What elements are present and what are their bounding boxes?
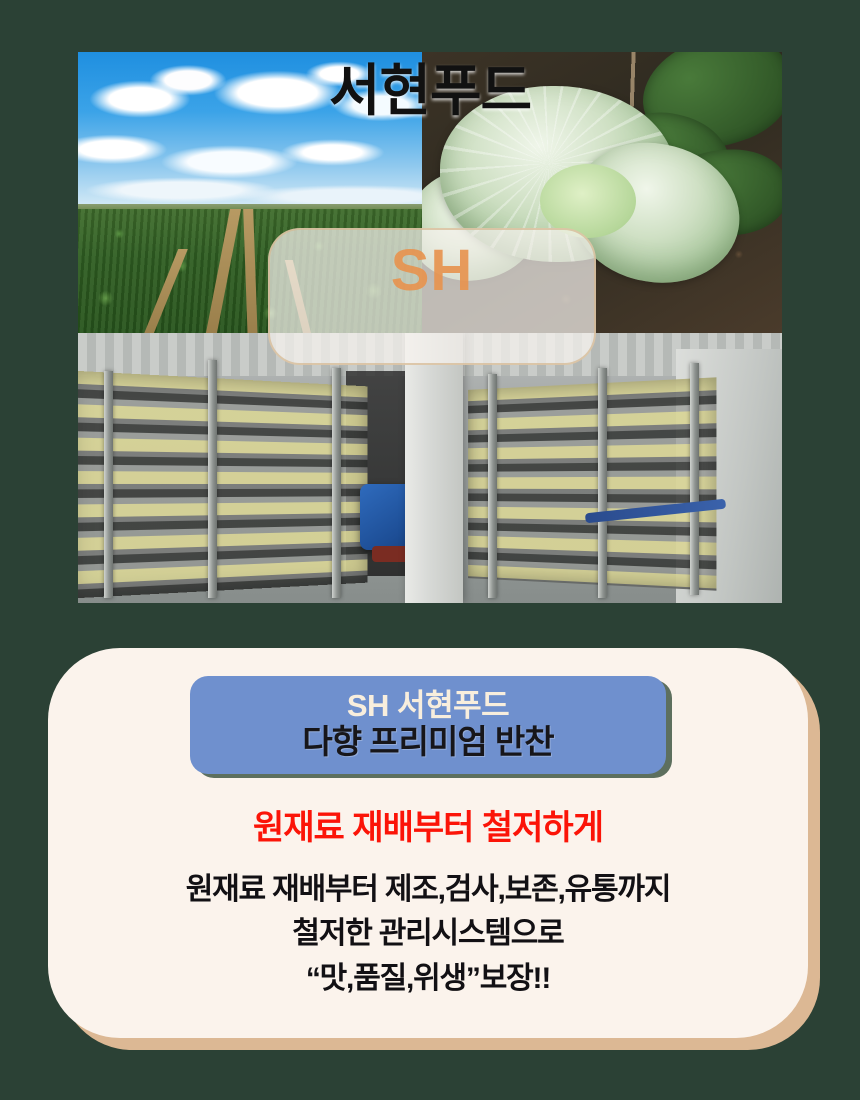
banner-brand-name: 서현푸드 xyxy=(389,688,509,723)
brand-logo-overlay: SH xyxy=(268,228,596,365)
logo-initials: SH xyxy=(270,242,594,300)
conveyor-rack xyxy=(468,378,717,591)
brand-banner: SH 서현푸드 다향 프리미엄 반찬 xyxy=(190,676,666,774)
factory-conveyor-photo xyxy=(78,333,782,603)
body-line: 철저한 관리시스템으로 xyxy=(48,912,808,956)
rack-post xyxy=(598,368,607,598)
rack-post xyxy=(488,374,497,598)
card-headline: 원재료 재배부터 철저하게 xyxy=(48,800,808,849)
banner-line-2: 다향 프리미엄 반찬 xyxy=(302,724,553,761)
banner-initials: SH xyxy=(347,688,389,723)
support-column xyxy=(405,333,463,603)
conveyor-rack xyxy=(78,370,367,598)
rack-post xyxy=(332,368,341,598)
rack-post xyxy=(690,363,699,595)
logo-brand-name: 서현푸드 xyxy=(0,62,860,121)
cabbage-core xyxy=(540,164,636,238)
body-line: “맛,품질,위생”보장!! xyxy=(48,957,808,1001)
rack-post xyxy=(208,360,217,598)
banner-line-1: SH 서현푸드 xyxy=(347,689,509,724)
body-line: 원재료 재배부터 제조,검사,보존,유통까지 xyxy=(48,868,808,912)
card-body-copy: 원재료 재배부터 제조,검사,보존,유통까지 철저한 관리시스템으로 “맛,품질… xyxy=(48,868,808,1001)
rack-post xyxy=(104,371,113,598)
